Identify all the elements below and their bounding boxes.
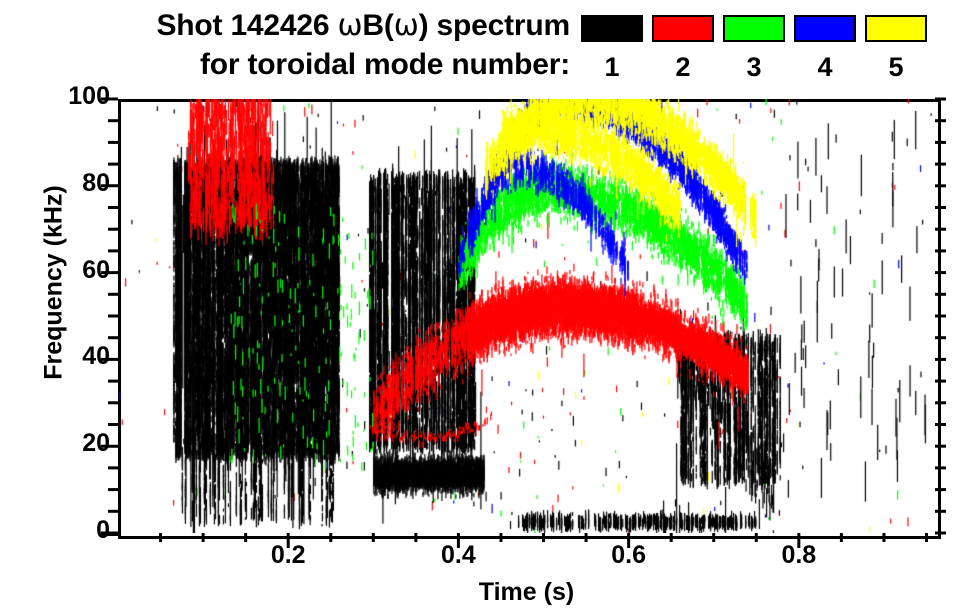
legend-label-5: 5	[865, 54, 927, 81]
legend-label-1: 1	[581, 54, 643, 81]
legend: 12345	[581, 15, 925, 90]
legend-label-4: 4	[794, 54, 856, 81]
omega-symbol-1: ω	[337, 8, 362, 43]
legend-label-2: 2	[652, 54, 714, 81]
legend-swatch-3	[723, 15, 785, 42]
y-tick-20: 20	[40, 431, 110, 456]
x-tick-0.8: 0.8	[759, 543, 839, 568]
x-tick-0.2: 0.2	[248, 543, 328, 568]
legend-item-3: 3	[723, 15, 785, 90]
x-tick-0.6: 0.6	[589, 543, 669, 568]
title-mid: B(	[362, 9, 393, 42]
legend-item-4: 4	[794, 15, 856, 90]
spectrogram-figure: Shot 142426 ωB(ω) spectrum for toroidal …	[0, 0, 963, 615]
x-axis-label: Time (s)	[118, 578, 935, 607]
y-axis-label: Frequency (kHz)	[40, 153, 69, 413]
y-tick-100: 100	[40, 84, 110, 109]
legend-item-2: 2	[652, 15, 714, 90]
x-axis-tick-labels: 0.20.40.60.8	[0, 543, 963, 583]
legend-item-1: 1	[581, 15, 643, 90]
legend-item-5: 5	[865, 15, 927, 90]
title-suffix: ) spectrum	[419, 9, 570, 42]
y-tick-0: 0	[40, 518, 110, 543]
x-tick-0.4: 0.4	[418, 543, 498, 568]
legend-swatch-4	[794, 15, 856, 42]
legend-swatch-5	[865, 15, 927, 42]
legend-swatch-1	[581, 15, 643, 42]
legend-label-3: 3	[723, 54, 785, 81]
spectrogram-plot-area	[118, 99, 935, 533]
omega-symbol-2: ω	[394, 8, 419, 43]
legend-swatch-2	[652, 15, 714, 42]
title-prefix: Shot 142426	[156, 9, 337, 42]
